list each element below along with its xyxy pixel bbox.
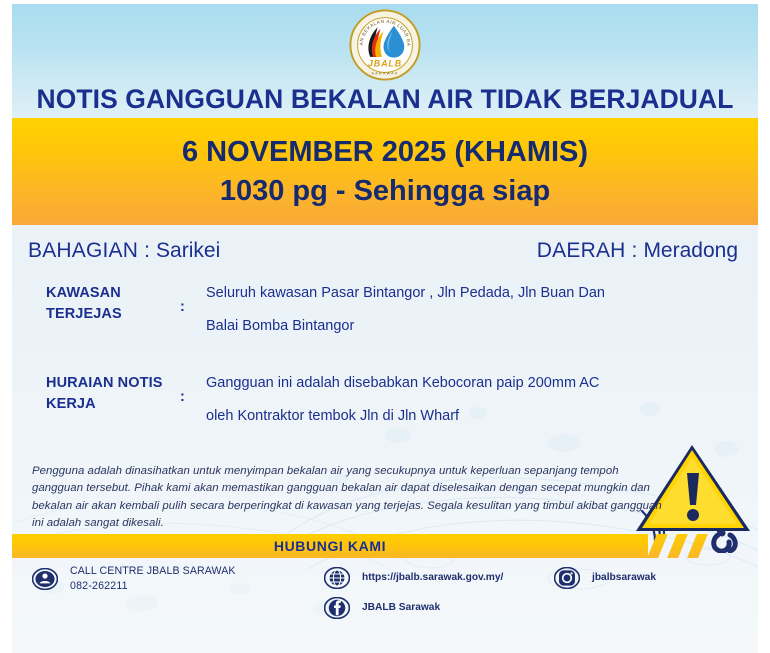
facebook-icon xyxy=(322,596,352,620)
affected-area-label-line1: KAWASAN xyxy=(46,283,180,304)
instagram-handle: jbalbsarawak xyxy=(592,571,656,585)
work-description-label-line1: HURAIAN NOTIS xyxy=(46,373,180,394)
work-description-block: HURAIAN NOTIS KERJA : Gangguan ini adala… xyxy=(28,373,734,427)
district-value: Meradong xyxy=(643,239,738,262)
website-url: https://jbalb.sarawak.gov.my/ xyxy=(362,571,503,585)
person-icon xyxy=(30,567,60,591)
contact-facebook[interactable]: JBALB Sarawak xyxy=(322,596,440,620)
call-centre-name: CALL CENTRE JBALB SARAWAK xyxy=(70,565,236,577)
facebook-page: JBALB Sarawak xyxy=(362,601,440,615)
call-centre-phone: 082-262211 xyxy=(70,579,236,594)
disclaimer-text: Pengguna adalah dinasihatkan untuk menyi… xyxy=(32,463,672,532)
work-description-label-line2: KERJA xyxy=(46,394,180,415)
svg-text:SARAWAK: SARAWAK xyxy=(371,72,398,76)
division-value: Sarikei xyxy=(156,239,220,262)
division-label: BAHAGIAN : xyxy=(28,239,150,262)
contact-call-centre-text: CALL CENTRE JBALB SARAWAK 082-262211 xyxy=(70,564,236,593)
page-title: NOTIS GANGGUAN BEKALAN AIR TIDAK BERJADU… xyxy=(19,84,750,115)
affected-area-colon: : xyxy=(180,283,206,318)
affected-area-value-line1: Seluruh kawasan Pasar Bintangor , Jln Pe… xyxy=(206,283,734,304)
work-description-label: HURAIAN NOTIS KERJA xyxy=(28,373,180,415)
contact-website[interactable]: https://jbalb.sarawak.gov.my/ xyxy=(322,566,503,590)
contact-call-centre[interactable]: CALL CENTRE JBALB SARAWAK 082-262211 xyxy=(30,564,236,593)
affected-area-label: KAWASAN TERJEJAS xyxy=(28,283,180,325)
work-description-colon: : xyxy=(180,373,206,408)
work-description-value-line1: Gangguan ini adalah disebabkan Kebocoran… xyxy=(206,373,734,394)
district-label: DAERAH : xyxy=(537,239,638,262)
contact-list: CALL CENTRE JBALB SARAWAK 082-262211 htt… xyxy=(12,560,758,650)
contact-instagram[interactable]: jbalbsarawak xyxy=(552,566,656,590)
contact-bar: HUBUNGI KAMI xyxy=(12,534,758,558)
region-row: BAHAGIAN : Sarikei DAERAH : Meradong xyxy=(12,239,758,263)
affected-area-value: Seluruh kawasan Pasar Bintangor , Jln Pe… xyxy=(206,283,734,337)
header-band: JABATAN BEKALAN AIR LUAR BANDAR JBALB SA… xyxy=(12,4,758,118)
district-field: DAERAH : Meradong xyxy=(537,239,738,263)
jbalb-sarawak-logo: JABATAN BEKALAN AIR LUAR BANDAR JBALB SA… xyxy=(348,8,422,82)
date-time-banner: 6 NOVEMBER 2025 (KHAMIS) 1030 pg - Sehin… xyxy=(12,118,758,225)
svg-text:JBALB: JBALB xyxy=(368,58,402,68)
instagram-icon xyxy=(552,566,582,590)
work-description-value: Gangguan ini adalah disebabkan Kebocoran… xyxy=(206,373,734,427)
contact-bar-stripes xyxy=(648,534,758,558)
logo-icon: JABATAN BEKALAN AIR LUAR BANDAR JBALB SA… xyxy=(348,8,422,82)
globe-icon xyxy=(322,566,352,590)
work-description-value-line2: oleh Kontraktor tembok Jln di Jln Wharf xyxy=(206,406,734,427)
affected-area-block: KAWASAN TERJEJAS : Seluruh kawasan Pasar… xyxy=(28,283,734,337)
water-disruption-notice-poster: JABATAN BEKALAN AIR LUAR BANDAR JBALB SA… xyxy=(0,0,770,653)
contact-bar-title: HUBUNGI KAMI xyxy=(12,534,648,558)
affected-area-label-line2: TERJEJAS xyxy=(46,304,180,325)
division-field: BAHAGIAN : Sarikei xyxy=(28,239,220,263)
notice-time: 1030 pg - Sehingga siap xyxy=(220,172,550,210)
notice-date: 6 NOVEMBER 2025 (KHAMIS) xyxy=(182,133,588,171)
affected-area-value-line2: Balai Bomba Bintangor xyxy=(206,316,734,337)
